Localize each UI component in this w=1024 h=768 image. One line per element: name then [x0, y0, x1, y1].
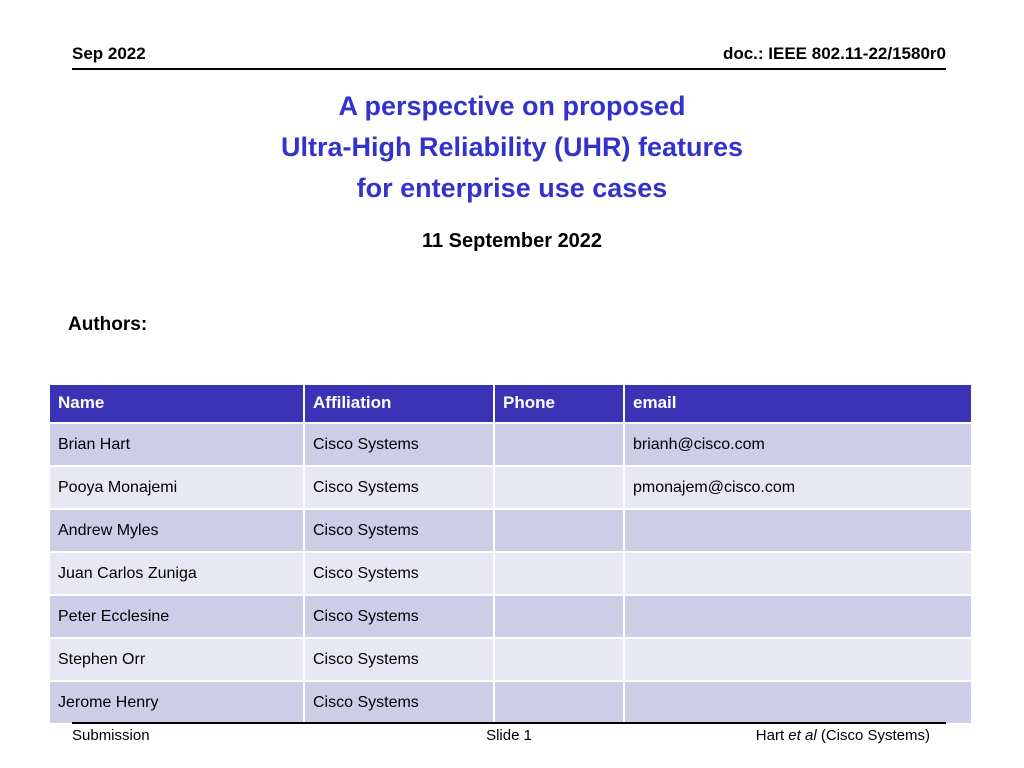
column-header-affiliation: Affiliation: [305, 385, 495, 424]
table-row: Peter EcclesineCisco Systems: [50, 596, 971, 639]
presentation-date: 11 September 2022: [62, 229, 962, 253]
table-row: Stephen OrrCisco Systems: [50, 639, 971, 682]
cell-phone: [495, 639, 625, 682]
cell-name: Stephen Orr: [50, 639, 305, 682]
cell-phone: [495, 596, 625, 639]
cell-affiliation: Cisco Systems: [305, 510, 495, 553]
cell-name: Jerome Henry: [50, 682, 305, 723]
table-header-row: Name Affiliation Phone email: [50, 385, 971, 424]
cell-name: Peter Ecclesine: [50, 596, 305, 639]
footer-attribution-prefix: Hart: [756, 727, 789, 744]
cell-affiliation: Cisco Systems: [305, 553, 495, 596]
cell-phone: [495, 682, 625, 723]
slide: Sep 2022 doc.: IEEE 802.11-22/1580r0 A p…: [0, 0, 1024, 768]
cell-affiliation: Cisco Systems: [305, 596, 495, 639]
authors-table: Name Affiliation Phone email Brian HartC…: [50, 385, 971, 723]
authors-table-body: Brian HartCisco Systemsbrianh@cisco.comP…: [50, 424, 971, 723]
page-title-line-3: for enterprise use cases: [62, 168, 962, 209]
cell-affiliation: Cisco Systems: [305, 467, 495, 510]
cell-name: Juan Carlos Zuniga: [50, 553, 305, 596]
table-row: Juan Carlos ZunigaCisco Systems: [50, 553, 971, 596]
authors-label: Authors:: [68, 313, 147, 336]
footer-attribution-suffix: (Cisco Systems): [817, 727, 930, 744]
table-row: Brian HartCisco Systemsbrianh@cisco.com: [50, 424, 971, 467]
table-row: Jerome HenryCisco Systems: [50, 682, 971, 723]
cell-phone: [495, 553, 625, 596]
footer-divider: [72, 722, 946, 724]
footer-attribution: Hart et al (Cisco Systems): [756, 727, 930, 745]
cell-affiliation: Cisco Systems: [305, 639, 495, 682]
cell-affiliation: Cisco Systems: [305, 682, 495, 723]
page-title: A perspective on proposed Ultra-High Rel…: [62, 86, 962, 209]
cell-name: Andrew Myles: [50, 510, 305, 553]
cell-email: [625, 682, 971, 723]
header-document-number: doc.: IEEE 802.11-22/1580r0: [723, 44, 946, 64]
header-date: Sep 2022: [72, 44, 146, 64]
footer-attribution-etal: et al: [788, 727, 816, 744]
page-title-line-2: Ultra-High Reliability (UHR) features: [62, 127, 962, 168]
slide-header: Sep 2022 doc.: IEEE 802.11-22/1580r0: [72, 44, 946, 64]
cell-name: Brian Hart: [50, 424, 305, 467]
cell-phone: [495, 467, 625, 510]
column-header-email: email: [625, 385, 971, 424]
cell-email: brianh@cisco.com: [625, 424, 971, 467]
cell-email: pmonajem@cisco.com: [625, 467, 971, 510]
cell-email: [625, 510, 971, 553]
cell-phone: [495, 424, 625, 467]
cell-phone: [495, 510, 625, 553]
table-row: Andrew MylesCisco Systems: [50, 510, 971, 553]
cell-affiliation: Cisco Systems: [305, 424, 495, 467]
column-header-name: Name: [50, 385, 305, 424]
header-divider: [72, 68, 946, 70]
page-title-line-1: A perspective on proposed: [62, 86, 962, 127]
table-row: Pooya MonajemiCisco Systemspmonajem@cisc…: [50, 467, 971, 510]
cell-email: [625, 639, 971, 682]
cell-email: [625, 553, 971, 596]
cell-email: [625, 596, 971, 639]
column-header-phone: Phone: [495, 385, 625, 424]
cell-name: Pooya Monajemi: [50, 467, 305, 510]
